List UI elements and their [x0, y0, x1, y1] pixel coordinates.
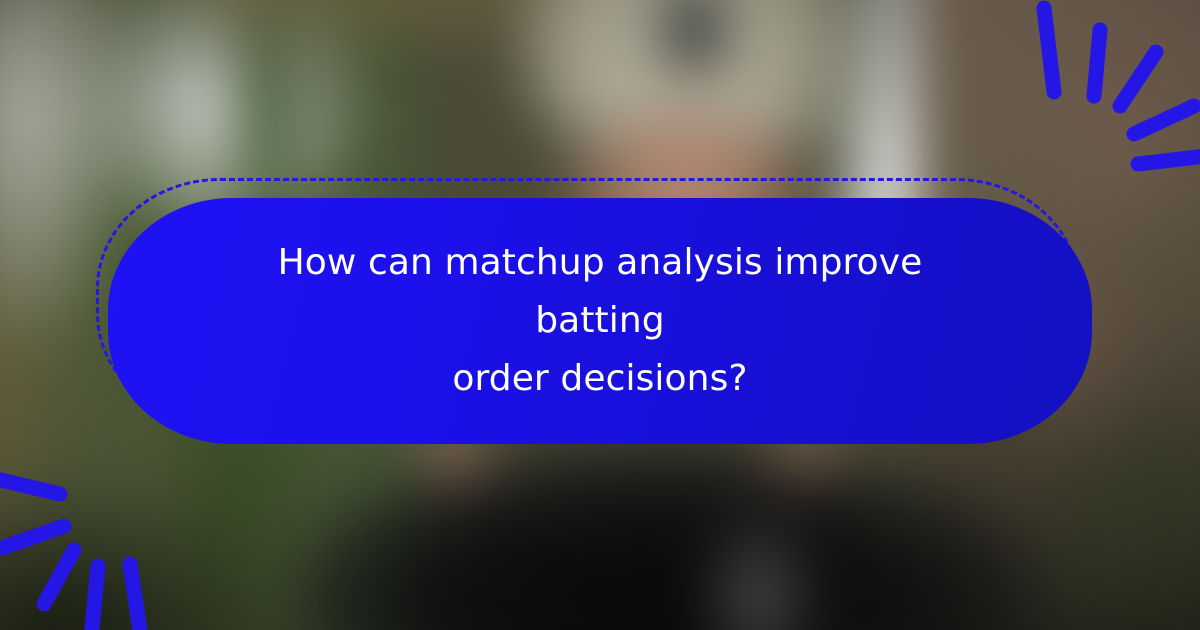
- social-card-canvas: How can matchup analysis improve batting…: [0, 0, 1200, 630]
- background-collar: [679, 495, 837, 630]
- question-card: How can matchup analysis improve batting…: [108, 198, 1092, 444]
- background-shadow-bottom-left: [0, 435, 336, 630]
- question-title: How can matchup analysis improve batting…: [220, 234, 980, 409]
